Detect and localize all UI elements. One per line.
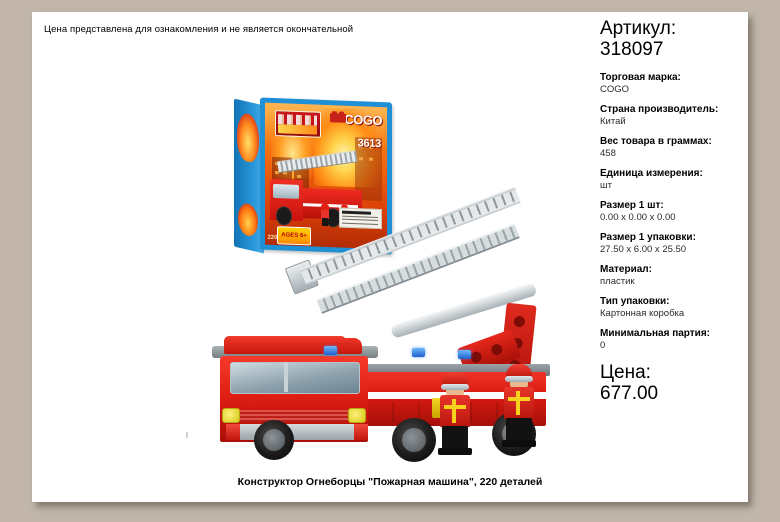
spec-value: Картонная коробка — [600, 308, 760, 320]
spec-row-material: Материал: пластик — [600, 264, 760, 288]
product-info-panel: Артикул: 318097 Торговая марка: COGO Стр… — [600, 18, 760, 404]
mini-wheel — [276, 206, 293, 226]
truck-grille — [232, 410, 356, 422]
blue-beacon-light-icon — [324, 346, 337, 355]
spec-value: 27.50 x 6.00 x 25.50 — [600, 244, 760, 256]
box-piece-count: 220 — [267, 235, 277, 241]
spec-row-weight: Вес товара в граммах: 458 — [600, 136, 760, 160]
spec-value: пластик — [600, 276, 760, 288]
page-root: Цена представлена для ознакомления и не … — [0, 0, 780, 522]
product-sheet: Цена представлена для ознакомления и не … — [32, 12, 748, 502]
spec-label: Единица измерения: — [600, 168, 760, 180]
flame-graphic — [237, 111, 259, 164]
spec-label: Размер 1 шт: — [600, 200, 760, 212]
price-disclaimer: Цена представлена для ознакомления и не … — [44, 24, 353, 35]
product-caption: Конструктор Огнеборцы "Пожарная машина",… — [32, 476, 748, 488]
truck-windshield — [230, 362, 360, 394]
spec-value: шт — [600, 180, 760, 192]
cogo-wordmark: COGO — [344, 113, 382, 127]
spec-label: Страна производитель: — [600, 104, 760, 116]
spec-row-brand: Торговая марка: COGO — [600, 72, 760, 96]
sku-value: 318097 — [600, 39, 760, 60]
spec-label: Торговая марка: — [600, 72, 760, 84]
sku-label: Артикул: — [600, 18, 760, 39]
visor-icon — [441, 384, 469, 390]
spec-row-unit: Единица измерения: шт — [600, 168, 760, 192]
firefighter-minifigure — [502, 364, 536, 444]
brick-studs-icon — [330, 113, 346, 123]
headlight-icon — [348, 408, 366, 423]
spec-label: Материал: — [600, 264, 760, 276]
spec-label: Вес товара в граммах: — [600, 136, 760, 148]
headlight-icon — [222, 408, 240, 423]
visor-icon — [505, 376, 533, 382]
price-value: 677.00 — [600, 383, 760, 404]
truck-bumper — [226, 424, 368, 440]
spec-label: Тип упаковки: — [600, 296, 760, 308]
spec-row-package-size: Размер 1 упаковки: 27.50 x 6.00 x 25.50 — [600, 232, 760, 256]
spec-label: Минимальная партия: — [600, 328, 760, 340]
price-block: Цена: 677.00 — [600, 362, 760, 404]
blue-beacon-light-icon — [412, 348, 425, 357]
truck-hood — [224, 338, 362, 354]
spec-row-item-size: Размер 1 шт: 0.00 x 0.00 x 0.00 — [600, 200, 760, 224]
product-box-image: COGO 3613 — [232, 90, 400, 262]
firefighter-minifigure — [438, 372, 472, 452]
price-label: Цена: — [600, 362, 760, 383]
series-logo-badge — [275, 110, 321, 138]
spec-row-min-order: Минимальная партия: 0 — [600, 328, 760, 352]
box-item-code: 3613 — [358, 137, 381, 150]
spec-label: Размер 1 упаковки: — [600, 232, 760, 244]
warning-label — [339, 207, 382, 229]
box-front-artwork: COGO 3613 — [265, 103, 387, 250]
spec-value: 0 — [600, 340, 760, 352]
spec-row-package-type: Тип упаковки: Картонная коробка — [600, 296, 760, 320]
truck-wheel — [254, 420, 294, 460]
fire-truck-model-photo — [202, 260, 602, 460]
spec-value: 458 — [600, 148, 760, 160]
flame-graphic-secondary — [238, 201, 258, 238]
blue-beacon-light-icon — [458, 350, 471, 359]
truck-wheel — [392, 418, 436, 462]
truck-cab — [220, 356, 368, 442]
mini-firefighter-figure — [321, 203, 330, 226]
page-artifact-mark — [186, 432, 188, 438]
spec-value: COGO — [600, 84, 760, 96]
spec-value: 0.00 x 0.00 x 0.00 — [600, 212, 760, 224]
age-rating-badge: AGES 6+ — [277, 226, 311, 245]
spec-value: Китай — [600, 116, 760, 128]
cogo-brand-logo: COGO — [344, 113, 382, 127]
spec-row-country: Страна производитель: Китай — [600, 104, 760, 128]
box-front-panel: COGO 3613 — [260, 97, 392, 254]
